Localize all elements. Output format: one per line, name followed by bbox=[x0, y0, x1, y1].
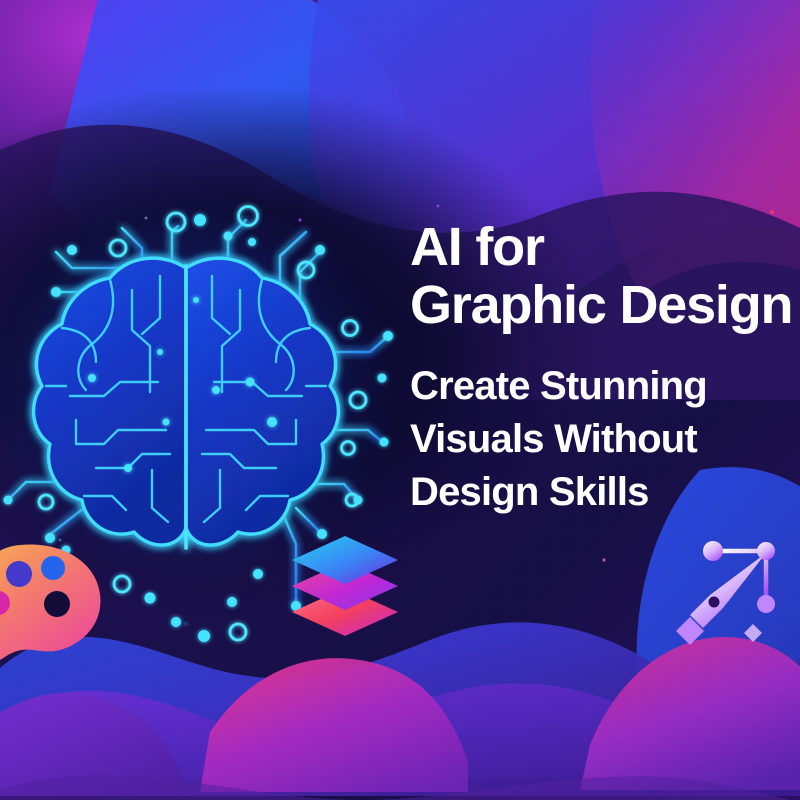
stacked-layers-icon bbox=[292, 536, 398, 636]
palette-dot-blue bbox=[41, 556, 65, 580]
layer-top bbox=[292, 536, 398, 584]
palette-thumb-hole bbox=[44, 591, 70, 617]
pen-nib-body bbox=[690, 553, 766, 628]
palette-dot-indigo bbox=[6, 561, 32, 587]
decorative-icons bbox=[0, 0, 800, 800]
pen-anchor-right bbox=[757, 542, 775, 560]
pen-small-diamond bbox=[744, 624, 762, 642]
pen-tool-icon bbox=[676, 541, 775, 645]
pen-control-point bbox=[757, 595, 775, 613]
artist-palette-icon bbox=[0, 545, 100, 665]
pen-nib-hole bbox=[709, 597, 720, 608]
pen-anchor-left bbox=[703, 541, 723, 561]
banner-canvas: AI for Graphic Design Create Stunning Vi… bbox=[0, 0, 800, 800]
